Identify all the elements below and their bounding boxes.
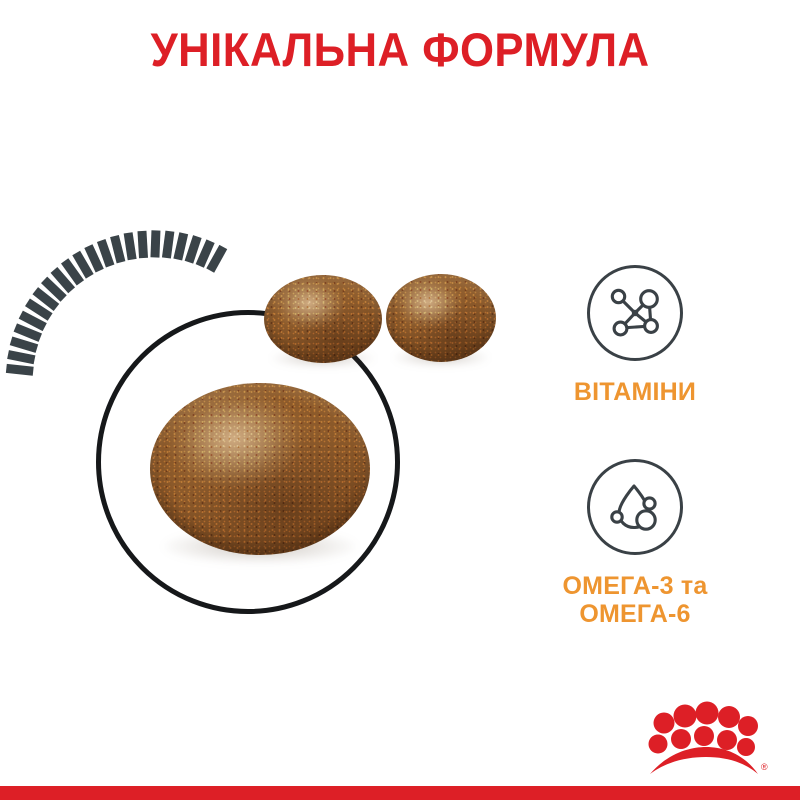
crown-logo-svg: ®: [640, 700, 768, 776]
royal-canin-crown-logo: ®: [640, 700, 768, 776]
scale-tick: [10, 337, 38, 353]
scale-tick: [7, 350, 35, 364]
feature-vitamins-label: ВІТАМІНИ: [500, 378, 770, 406]
kibble-body: [264, 275, 382, 363]
scale-tick: [150, 230, 160, 257]
scale-tick: [25, 299, 53, 321]
kibble-texture: [386, 274, 496, 362]
scale-tick: [41, 277, 67, 302]
scale-tick: [124, 232, 137, 260]
kibble-body: [150, 383, 370, 555]
page-title: УНІКАЛЬНА ФОРМУЛА: [28, 22, 772, 77]
scale-tick: [196, 239, 215, 267]
scale-tick: [162, 231, 174, 259]
scale-tick: [72, 251, 93, 279]
scale-tick: [185, 235, 202, 263]
scale-tick: [32, 287, 59, 311]
molecule-icon: [604, 282, 666, 344]
scale-tick: [61, 258, 84, 285]
scale-tick: [206, 245, 227, 273]
scale-tick: [6, 364, 34, 376]
scale-tick: [19, 311, 47, 331]
feature-omega-label-line1: ОМЕГА-3 та: [500, 572, 770, 600]
oil-droplet-icon: [604, 476, 666, 538]
footer-bar: [0, 786, 800, 800]
scale-tick: [97, 239, 114, 267]
kibble-large: [150, 383, 370, 555]
feature-omega: ОМЕГА-3 та ОМЕГА-6: [500, 459, 770, 628]
oil-droplet-icon-badge: [587, 459, 683, 555]
scale-tick: [84, 244, 103, 272]
promo-banner: УНІКАЛЬНА ФОРМУЛА: [0, 0, 800, 800]
kibble-top-b: [386, 274, 496, 362]
kibble-texture: [150, 383, 370, 555]
molecule-icon-badge: [587, 265, 683, 361]
kibble-top-a: [264, 275, 382, 363]
feature-vitamins: ВІТАМІНИ: [500, 265, 770, 406]
registered-mark: ®: [761, 762, 768, 772]
scale-tick: [51, 267, 75, 293]
feature-list: ВІТАМІНИ ОМЕГА-3 та ОМЕГА-6: [500, 265, 770, 628]
scale-tick: [137, 231, 148, 258]
kibble-texture: [264, 275, 382, 363]
scale-tick: [110, 235, 125, 263]
scale-tick: [14, 323, 42, 342]
feature-omega-label: ОМЕГА-3 та ОМЕГА-6: [500, 572, 770, 628]
kibble-body: [386, 274, 496, 362]
scale-tick: [173, 232, 188, 260]
feature-omega-label-line2: ОМЕГА-6: [500, 600, 770, 628]
